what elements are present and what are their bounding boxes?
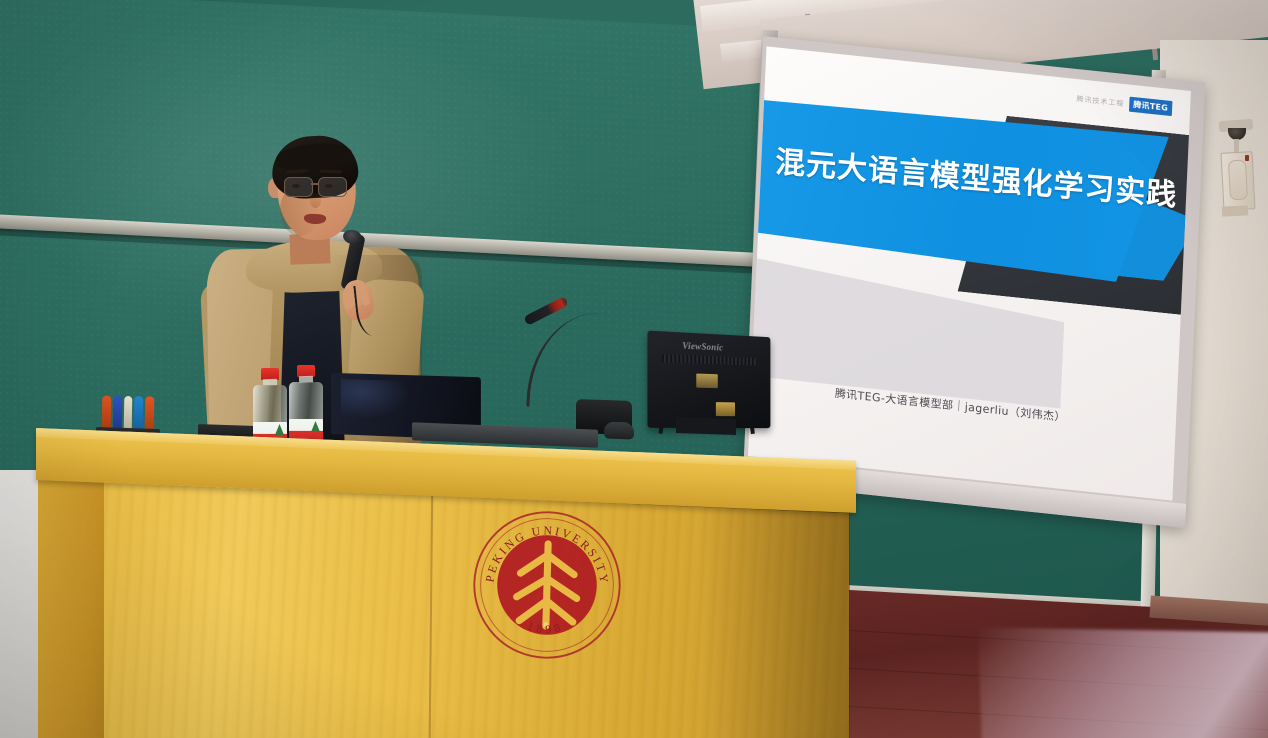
slide-logo-badge: 腾讯TEG — [1129, 97, 1173, 116]
floor-light-reflection — [978, 627, 1268, 738]
marker-blue — [112, 396, 121, 432]
slide-logo: 腾讯技术工程 腾讯TEG — [1076, 91, 1172, 116]
camera-stem — [1234, 139, 1239, 153]
podium-left-column — [38, 470, 108, 738]
monitor-sticker — [716, 402, 735, 416]
monitor-vent — [662, 354, 756, 366]
slide-surface: 混元大语言模型强化学习实践 腾讯TEG-大语言模型部｜jagerliu（刘伟杰）… — [748, 46, 1191, 500]
wall-speaker — [1221, 151, 1256, 211]
marker-cyan — [134, 396, 143, 432]
speaker-bracket — [1222, 205, 1248, 216]
monitor-stand — [676, 417, 736, 435]
monitor-back: ViewSonic — [647, 331, 770, 429]
projection-screen: 混元大语言模型强化学习实践 腾讯TEG-大语言模型部｜jagerliu（刘伟杰）… — [743, 36, 1206, 528]
speaker-led-indicator — [1245, 155, 1249, 161]
laptop-lid-reflection — [341, 379, 410, 421]
peking-university-seal-icon: PEKING UNIVERSITY 1898 — [466, 503, 628, 667]
presenter-eye-left — [292, 184, 300, 188]
slide-logo-faint-text: 腾讯技术工程 — [1076, 94, 1124, 109]
monitor-brand-label: ViewSonic — [682, 341, 723, 353]
presenter-nose — [310, 192, 321, 208]
presenter-eye-right — [325, 184, 333, 188]
mouse[interactable] — [604, 421, 634, 439]
marker-red — [145, 396, 154, 432]
marker-white — [123, 396, 132, 432]
lecture-hall-photo: 混元大语言模型强化学习实践 腾讯TEG-大语言模型部｜jagerliu（刘伟杰）… — [0, 0, 1268, 738]
glasses-lens-right — [318, 177, 347, 197]
podium-shading — [700, 482, 850, 738]
glasses-bridge — [311, 183, 319, 185]
monitor-mount-badge — [696, 374, 718, 389]
